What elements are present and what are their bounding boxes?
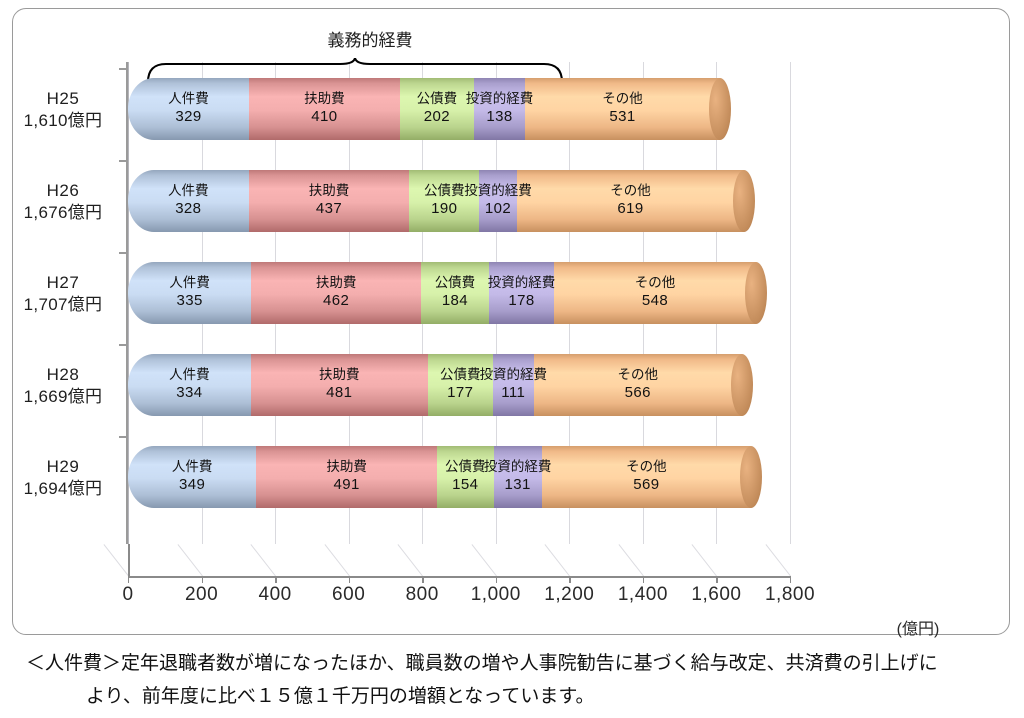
segment-text: 投資的経費178 bbox=[488, 275, 556, 311]
segment-value: 619 bbox=[610, 200, 651, 219]
segment-name: 公債費 bbox=[445, 459, 486, 476]
bar-segment-投資的経費[interactable]: 投資的経費111 bbox=[493, 354, 534, 416]
segment-value: 138 bbox=[466, 108, 534, 127]
bar-segment-公債費[interactable]: 公債費202 bbox=[400, 78, 474, 140]
category-tick bbox=[119, 436, 127, 438]
segment-name: 人件費 bbox=[168, 91, 209, 108]
footer-line-2: より、前年度に比べ１５億１千万円の増額となっています。 bbox=[0, 681, 1024, 714]
segment-value: 184 bbox=[435, 292, 476, 311]
segment-value: 462 bbox=[316, 292, 357, 311]
segment-name: 投資的経費 bbox=[466, 91, 534, 108]
segment-value: 531 bbox=[602, 108, 643, 127]
segment-text: 人件費349 bbox=[172, 459, 213, 495]
bar-segment-扶助費[interactable]: 扶助費491 bbox=[256, 446, 437, 508]
segment-name: 公債費 bbox=[417, 91, 458, 108]
bar-segment-人件費[interactable]: 人件費334 bbox=[128, 354, 251, 416]
segment-text: 扶助費410 bbox=[304, 91, 345, 127]
axis-left-cap bbox=[128, 544, 130, 577]
x-tick-label: 1,400 bbox=[618, 584, 668, 606]
category-tick bbox=[119, 344, 127, 346]
category-total: 1,676億円 bbox=[4, 202, 122, 224]
segment-value: 202 bbox=[417, 108, 458, 127]
cylinder-end-cap bbox=[745, 262, 767, 324]
segment-value: 328 bbox=[168, 200, 209, 219]
segment-text: 人件費335 bbox=[169, 275, 210, 311]
segment-text: 人件費328 bbox=[168, 183, 209, 219]
bar-segment-その他[interactable]: その他548 bbox=[554, 262, 756, 324]
bar-segment-人件費[interactable]: 人件費349 bbox=[128, 446, 256, 508]
chart-page: (億円) 義務的経費 ＜人件費＞定年退職者数が増になったほか、職員数の増や人事院… bbox=[0, 0, 1024, 718]
segment-value: 410 bbox=[304, 108, 345, 127]
segment-name: 公債費 bbox=[435, 275, 476, 292]
segment-value: 154 bbox=[445, 476, 486, 495]
x-tick-800 bbox=[422, 576, 423, 583]
bar-segment-投資的経費[interactable]: 投資的経費138 bbox=[474, 78, 525, 140]
segment-value: 566 bbox=[617, 384, 658, 403]
segment-text: 公債費177 bbox=[440, 367, 481, 403]
cylinder-end-cap bbox=[740, 446, 762, 508]
cylinder-end-cap bbox=[709, 78, 731, 140]
segment-text: 扶助費437 bbox=[309, 183, 350, 219]
segment-text: 人件費334 bbox=[169, 367, 210, 403]
segment-name: 人件費 bbox=[172, 459, 213, 476]
bar-row: 人件費334扶助費481公債費177投資的経費111その他566 bbox=[128, 354, 790, 416]
x-tick-0 bbox=[128, 576, 129, 583]
x-tick-1200 bbox=[569, 576, 570, 583]
x-tick-400 bbox=[275, 576, 276, 583]
segment-text: その他619 bbox=[610, 183, 651, 219]
bar-segment-その他[interactable]: その他569 bbox=[542, 446, 751, 508]
bar-segment-扶助費[interactable]: 扶助費437 bbox=[249, 170, 410, 232]
bar-segment-人件費[interactable]: 人件費328 bbox=[128, 170, 249, 232]
segment-value: 335 bbox=[169, 292, 210, 311]
segment-value: 437 bbox=[309, 200, 350, 219]
bar-row: 人件費349扶助費491公債費154投資的経費131その他569 bbox=[128, 446, 790, 508]
segment-text: その他569 bbox=[626, 459, 667, 495]
segment-text: 扶助費462 bbox=[316, 275, 357, 311]
segment-name: 公債費 bbox=[440, 367, 481, 384]
bar-segment-人件費[interactable]: 人件費335 bbox=[128, 262, 251, 324]
segment-name: 人件費 bbox=[168, 183, 209, 200]
segment-name: その他 bbox=[602, 91, 643, 108]
segment-value: 334 bbox=[169, 384, 210, 403]
category-tick bbox=[119, 252, 127, 254]
category-tick bbox=[119, 160, 127, 162]
category-year: H25 bbox=[4, 88, 122, 110]
x-tick-label: 200 bbox=[185, 584, 218, 606]
bar-segment-その他[interactable]: その他566 bbox=[534, 354, 742, 416]
segment-value: 131 bbox=[484, 476, 552, 495]
x-tick-600 bbox=[349, 576, 350, 583]
segment-text: 投資的経費111 bbox=[479, 367, 547, 403]
segment-text: 公債費154 bbox=[445, 459, 486, 495]
x-tick-200 bbox=[202, 576, 203, 583]
category-label-h25: H251,610億円 bbox=[4, 88, 122, 133]
segment-text: 公債費184 bbox=[435, 275, 476, 311]
cylinder-end-cap bbox=[731, 354, 753, 416]
segment-text: 扶助費491 bbox=[326, 459, 367, 495]
segment-name: 扶助費 bbox=[316, 275, 357, 292]
segment-text: その他548 bbox=[635, 275, 676, 311]
axis-unit-label: (億円) bbox=[897, 615, 940, 639]
x-axis-line bbox=[128, 576, 791, 578]
category-year: H29 bbox=[4, 456, 122, 478]
x-tick-1400 bbox=[643, 576, 644, 583]
bar-row: 人件費335扶助費462公債費184投資的経費178その他548 bbox=[128, 262, 790, 324]
segment-value: 178 bbox=[488, 292, 556, 311]
segment-value: 329 bbox=[168, 108, 209, 127]
x-tick-label: 400 bbox=[259, 584, 292, 606]
x-tick-label: 800 bbox=[406, 584, 439, 606]
bar-segment-その他[interactable]: その他531 bbox=[525, 78, 720, 140]
bar-row: 人件費329扶助費410公債費202投資的経費138その他531 bbox=[128, 78, 790, 140]
x-tick-label: 600 bbox=[332, 584, 365, 606]
segment-name: 人件費 bbox=[169, 275, 210, 292]
bar-segment-投資的経費[interactable]: 投資的経費102 bbox=[479, 170, 517, 232]
category-label-h27: H271,707億円 bbox=[4, 272, 122, 317]
segment-value: 102 bbox=[464, 200, 532, 219]
category-label-h28: H281,669億円 bbox=[4, 364, 122, 409]
bar-segment-投資的経費[interactable]: 投資的経費178 bbox=[489, 262, 554, 324]
segment-text: その他566 bbox=[617, 367, 658, 403]
x-tick-label: 1,800 bbox=[765, 584, 815, 606]
segment-name: その他 bbox=[626, 459, 667, 476]
bar-segment-人件費[interactable]: 人件費329 bbox=[128, 78, 249, 140]
footer-line-1: ＜人件費＞定年退職者数が増になったほか、職員数の増や人事院勧告に基づく給与改定、… bbox=[0, 648, 1024, 681]
bar-row: 人件費328扶助費437公債費190投資的経費102その他619 bbox=[128, 170, 790, 232]
segment-name: 扶助費 bbox=[319, 367, 360, 384]
segment-text: 人件費329 bbox=[168, 91, 209, 127]
category-year: H28 bbox=[4, 364, 122, 386]
segment-text: 扶助費481 bbox=[319, 367, 360, 403]
bar-segment-扶助費[interactable]: 扶助費462 bbox=[251, 262, 421, 324]
category-total: 1,707億円 bbox=[4, 294, 122, 316]
segment-text: 公債費202 bbox=[417, 91, 458, 127]
segment-value: 569 bbox=[626, 476, 667, 495]
x-tick-label: 1,000 bbox=[471, 584, 521, 606]
bar-segment-扶助費[interactable]: 扶助費410 bbox=[249, 78, 400, 140]
segment-text: 投資的経費131 bbox=[484, 459, 552, 495]
segment-name: 投資的経費 bbox=[479, 367, 547, 384]
bar-segment-公債費[interactable]: 公債費184 bbox=[421, 262, 489, 324]
segment-name: 投資的経費 bbox=[488, 275, 556, 292]
segment-text: その他531 bbox=[602, 91, 643, 127]
category-year: H27 bbox=[4, 272, 122, 294]
footer-note: ＜人件費＞定年退職者数が増になったほか、職員数の増や人事院勧告に基づく給与改定、… bbox=[0, 648, 1024, 713]
segment-name: その他 bbox=[617, 367, 658, 384]
segment-text: 公債費190 bbox=[424, 183, 465, 219]
x-tick-1000 bbox=[496, 576, 497, 583]
x-tick-1600 bbox=[716, 576, 717, 583]
segment-value: 491 bbox=[326, 476, 367, 495]
segment-value: 111 bbox=[479, 384, 547, 403]
segment-name: 扶助費 bbox=[304, 91, 345, 108]
segment-name: 扶助費 bbox=[326, 459, 367, 476]
segment-name: 投資的経費 bbox=[464, 183, 532, 200]
segment-name: 人件費 bbox=[169, 367, 210, 384]
segment-name: 公債費 bbox=[424, 183, 465, 200]
category-label-h29: H291,694億円 bbox=[4, 456, 122, 501]
segment-name: 扶助費 bbox=[309, 183, 350, 200]
bar-segment-投資的経費[interactable]: 投資的経費131 bbox=[494, 446, 542, 508]
x-tick-1800 bbox=[790, 576, 791, 583]
bracket-label: 義務的経費 bbox=[328, 26, 413, 51]
category-year: H26 bbox=[4, 180, 122, 202]
x-tick-label: 0 bbox=[122, 584, 133, 606]
bar-segment-その他[interactable]: その他619 bbox=[517, 170, 745, 232]
segment-text: 投資的経費102 bbox=[464, 183, 532, 219]
gridline-1800 bbox=[790, 62, 791, 544]
segment-name: 投資的経費 bbox=[484, 459, 552, 476]
segment-text: 投資的経費138 bbox=[466, 91, 534, 127]
segment-name: その他 bbox=[610, 183, 651, 200]
category-total: 1,694億円 bbox=[4, 478, 122, 500]
category-label-h26: H261,676億円 bbox=[4, 180, 122, 225]
x-tick-label: 1,600 bbox=[691, 584, 741, 606]
category-tick bbox=[119, 68, 127, 70]
segment-value: 349 bbox=[172, 476, 213, 495]
segment-value: 177 bbox=[440, 384, 481, 403]
segment-value: 190 bbox=[424, 200, 465, 219]
category-total: 1,610億円 bbox=[4, 110, 122, 132]
cylinder-end-cap bbox=[733, 170, 755, 232]
segment-value: 548 bbox=[635, 292, 676, 311]
segment-value: 481 bbox=[319, 384, 360, 403]
x-tick-label: 1,200 bbox=[544, 584, 594, 606]
bar-segment-扶助費[interactable]: 扶助費481 bbox=[251, 354, 428, 416]
category-total: 1,669億円 bbox=[4, 386, 122, 408]
segment-name: その他 bbox=[635, 275, 676, 292]
